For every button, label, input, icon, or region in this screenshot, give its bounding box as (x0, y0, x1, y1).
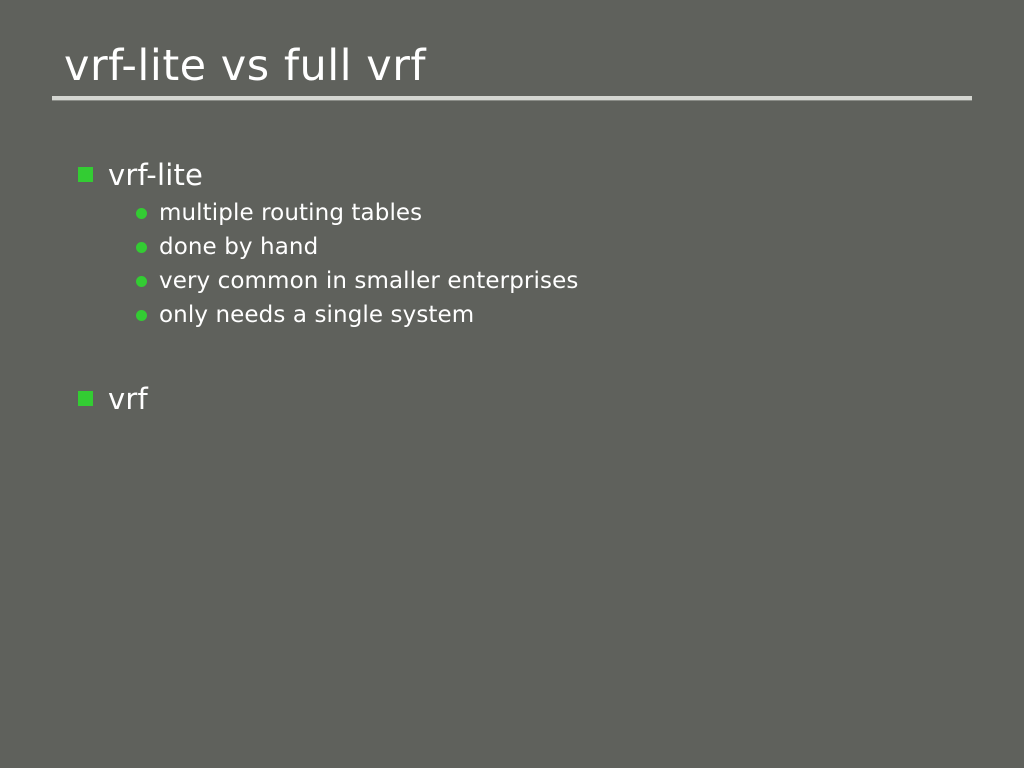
page-title: vrf-lite vs full vrf (52, 44, 972, 94)
square-bullet-icon (78, 167, 93, 182)
list-item: vrf-lite multiple routing tables done by… (78, 156, 978, 332)
list-spacer (78, 336, 978, 380)
bullet-list-level1: vrf-lite multiple routing tables done by… (78, 156, 978, 418)
sub-bullet-label-done-by-hand: done by hand (159, 230, 978, 264)
bullet-label-vrf-lite: vrf-lite (108, 156, 978, 194)
presentation-slide: vrf-lite vs full vrf vrf-lite multiple r… (0, 0, 1024, 768)
title-divider (52, 96, 972, 101)
dot-bullet-icon (136, 310, 147, 321)
list-item: only needs a single system (136, 298, 978, 332)
slide-body: vrf-lite multiple routing tables done by… (78, 156, 978, 422)
list-item: vrf (78, 380, 978, 418)
dot-bullet-icon (136, 208, 147, 219)
list-item: very common in smaller enterprises (136, 264, 978, 298)
sub-bullet-label-only-needs-a-single-system: only needs a single system (159, 298, 978, 332)
bullet-label-vrf: vrf (108, 380, 978, 418)
dot-bullet-icon (136, 242, 147, 253)
list-item: done by hand (136, 230, 978, 264)
square-bullet-icon (78, 391, 93, 406)
dot-bullet-icon (136, 276, 147, 287)
list-item: multiple routing tables (136, 196, 978, 230)
slide-title-block: vrf-lite vs full vrf (52, 44, 972, 101)
bullet-list-level2: multiple routing tables done by hand ver… (108, 196, 978, 332)
sub-bullet-label-very-common-in-smaller-enterprises: very common in smaller enterprises (159, 264, 978, 298)
sub-bullet-label-multiple-routing-tables: multiple routing tables (159, 196, 978, 230)
